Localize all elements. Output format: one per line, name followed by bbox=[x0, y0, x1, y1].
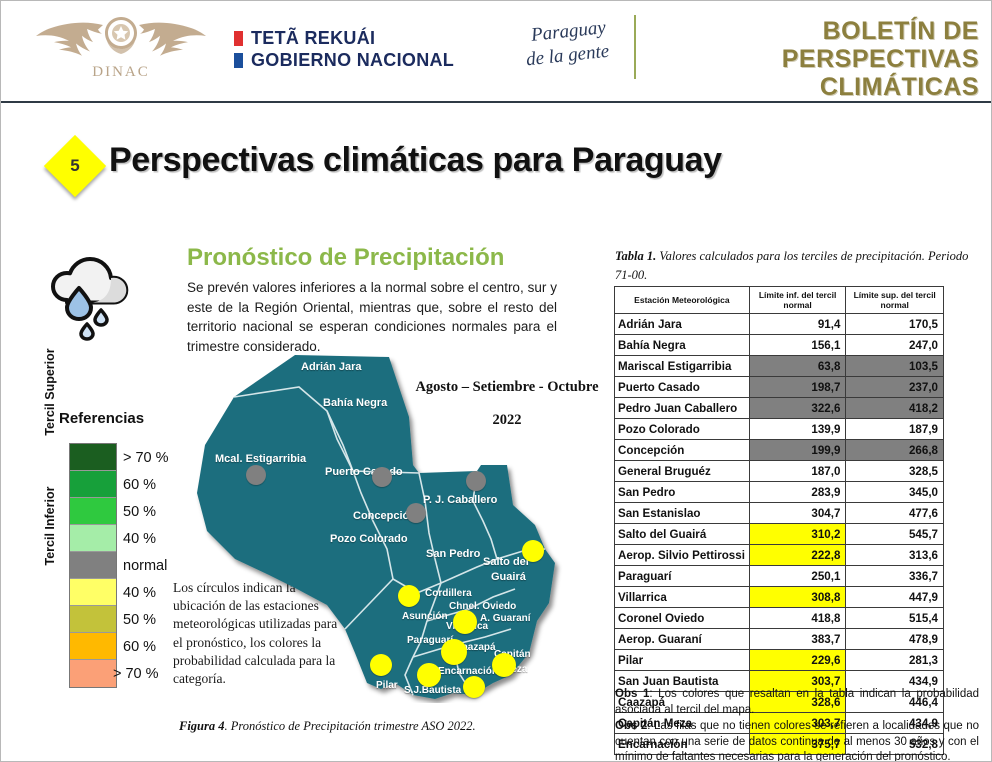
obs2-label: Obs 2 bbox=[615, 720, 647, 732]
cell-lower-limit: 156,1 bbox=[749, 335, 846, 356]
paraguay-brand: Paraguay de la gente bbox=[513, 21, 623, 67]
cell-lower-limit: 383,7 bbox=[749, 629, 846, 650]
cell-station: Aerop. Guaraní bbox=[615, 629, 750, 650]
cell-station: Villarrica bbox=[615, 587, 750, 608]
station-dot bbox=[522, 540, 544, 562]
map-label: Pozo Colorado bbox=[330, 533, 408, 545]
cell-station: San Estanislao bbox=[615, 503, 750, 524]
cell-upper-limit: 281,3 bbox=[846, 650, 944, 671]
rain-cloud-icon bbox=[39, 244, 143, 348]
table-row: Bahía Negra156,1247,0 bbox=[615, 335, 944, 356]
cell-upper-limit: 447,9 bbox=[846, 587, 944, 608]
cell-station: Mariscal Estigarribia bbox=[615, 356, 750, 377]
table-row: General Bruguéz187,0328,5 bbox=[615, 461, 944, 482]
legend-label: 50 % bbox=[123, 504, 156, 520]
station-dot bbox=[398, 585, 420, 607]
cell-lower-limit: 250,1 bbox=[749, 566, 846, 587]
gov-line-1: TETÃ REKUÁI bbox=[234, 27, 454, 49]
cell-lower-limit: 199,9 bbox=[749, 440, 846, 461]
cell-upper-limit: 103,5 bbox=[846, 356, 944, 377]
map-label: Guairá bbox=[491, 571, 526, 583]
map-label: P. J. Caballero bbox=[423, 494, 497, 506]
cell-station: San Pedro bbox=[615, 482, 750, 503]
cell-upper-limit: 336,7 bbox=[846, 566, 944, 587]
legend-label: 60 % bbox=[123, 639, 156, 655]
table-row: Pilar229,6281,3 bbox=[615, 650, 944, 671]
cell-upper-limit: 313,6 bbox=[846, 545, 944, 566]
page-header: DINAC TETÃ REKUÁI GOBIERNO NACIONAL Para… bbox=[1, 1, 991, 101]
observations: Obs 1: Los colores que resaltan en la ta… bbox=[615, 687, 979, 762]
map-label: Cordillera bbox=[425, 588, 472, 599]
forecast-heading: Pronóstico de Precipitación bbox=[187, 244, 504, 272]
cell-station: Pozo Colorado bbox=[615, 419, 750, 440]
tercile-table: Estación Meteorológica Límite inf. del t… bbox=[614, 286, 944, 755]
col-header-upper: Límite sup. del tercil normal bbox=[846, 287, 944, 314]
cell-station: Concepción bbox=[615, 440, 750, 461]
obs1-text: : Los colores que resaltan en la tabla i… bbox=[615, 688, 979, 716]
cell-lower-limit: 304,7 bbox=[749, 503, 846, 524]
table-row: Puerto Casado198,7237,0 bbox=[615, 377, 944, 398]
figure-caption-bold: Figura 4 bbox=[179, 719, 225, 733]
blue-square-icon bbox=[234, 53, 243, 68]
table-row: Salto del Guairá310,2545,7 bbox=[615, 524, 944, 545]
table-row: Aerop. Guaraní383,7478,9 bbox=[615, 629, 944, 650]
station-dot bbox=[246, 465, 266, 485]
dinac-logo: DINAC bbox=[21, 9, 221, 95]
legend-label: > 70 % bbox=[123, 450, 169, 466]
dinac-label: DINAC bbox=[21, 64, 221, 81]
station-dot bbox=[372, 467, 392, 487]
legend-swatch bbox=[70, 579, 116, 606]
station-dot bbox=[370, 654, 392, 676]
cell-station: Salto del Guairá bbox=[615, 524, 750, 545]
cell-lower-limit: 63,8 bbox=[749, 356, 846, 377]
station-dot bbox=[441, 639, 467, 665]
cell-upper-limit: 477,6 bbox=[846, 503, 944, 524]
cell-lower-limit: 139,9 bbox=[749, 419, 846, 440]
legend-label: normal bbox=[123, 558, 167, 574]
cell-upper-limit: 545,7 bbox=[846, 524, 944, 545]
table-caption-bold: Tabla 1. bbox=[615, 249, 656, 263]
table-row: Villarrica308,8447,9 bbox=[615, 587, 944, 608]
map-label: Mcal. Estigarribia bbox=[215, 453, 306, 465]
cell-station: Pedro Juan Caballero bbox=[615, 398, 750, 419]
legend-label: > 70 % bbox=[113, 666, 159, 682]
table-row: San Pedro283,9345,0 bbox=[615, 482, 944, 503]
cell-lower-limit: 310,2 bbox=[749, 524, 846, 545]
legend-swatches bbox=[69, 443, 117, 688]
table-caption: Tabla 1. Valores calculados para los ter… bbox=[615, 247, 981, 285]
cell-station: General Bruguéz bbox=[615, 461, 750, 482]
obs2-text: : Las filas que no tienen colores se ref… bbox=[615, 720, 979, 762]
gov-line-2: GOBIERNO NACIONAL bbox=[234, 49, 454, 71]
header-rule bbox=[1, 101, 991, 103]
station-dot bbox=[453, 610, 477, 634]
table-caption-rest: Valores calculados para los terciles de … bbox=[615, 249, 968, 282]
cell-upper-limit: 418,2 bbox=[846, 398, 944, 419]
obs1-label: Obs 1 bbox=[615, 688, 649, 700]
map-label: Salto del bbox=[483, 556, 529, 568]
table-row: Pozo Colorado139,9187,9 bbox=[615, 419, 944, 440]
table-row: Aerop. Silvio Pettirossi222,8313,6 bbox=[615, 545, 944, 566]
bulletin-page: DINAC TETÃ REKUÁI GOBIERNO NACIONAL Para… bbox=[0, 0, 992, 762]
cell-lower-limit: 91,4 bbox=[749, 314, 846, 335]
cell-lower-limit: 187,0 bbox=[749, 461, 846, 482]
cell-station: Paraguarí bbox=[615, 566, 750, 587]
table-row: Concepción199,9266,8 bbox=[615, 440, 944, 461]
cell-station: Adrián Jara bbox=[615, 314, 750, 335]
bulletin-title: BOLETÍN DE PERSPECTIVAS CLIMÁTICAS bbox=[649, 17, 979, 101]
map-label: Adrián Jara bbox=[301, 361, 362, 373]
cell-station: Pilar bbox=[615, 650, 750, 671]
table-row: Coronel Oviedo418,8515,4 bbox=[615, 608, 944, 629]
header-divider bbox=[634, 15, 636, 79]
cell-lower-limit: 308,8 bbox=[749, 587, 846, 608]
station-dot bbox=[463, 676, 485, 698]
cell-upper-limit: 187,9 bbox=[846, 419, 944, 440]
forecast-body: Se prevén valores inferiores a la normal… bbox=[187, 278, 557, 356]
cell-station: Bahía Negra bbox=[615, 335, 750, 356]
cell-upper-limit: 170,5 bbox=[846, 314, 944, 335]
legend-swatch bbox=[70, 471, 116, 498]
cell-station: Coronel Oviedo bbox=[615, 608, 750, 629]
legend-lower-tercile-label: Tercil Inferior bbox=[43, 471, 57, 581]
legend-label: 40 % bbox=[123, 531, 156, 547]
map-label: Encarnación bbox=[438, 666, 498, 677]
map-label: Pilar bbox=[376, 680, 398, 691]
gov-label-1: TETÃ REKUÁI bbox=[251, 28, 375, 49]
government-logo: TETÃ REKUÁI GOBIERNO NACIONAL bbox=[234, 27, 454, 71]
col-header-station: Estación Meteorológica bbox=[615, 287, 750, 314]
cell-upper-limit: 515,4 bbox=[846, 608, 944, 629]
cell-station: Aerop. Silvio Pettirossi bbox=[615, 545, 750, 566]
paraguay-map: Adrián Jara Bahía Negra Mcal. Estigarrib… bbox=[177, 353, 587, 703]
figure-caption-rest: . Pronóstico de Precipitación trimestre … bbox=[225, 719, 476, 733]
map-label: S.J.Bautista bbox=[404, 685, 461, 696]
table-row: San Estanislao304,7477,6 bbox=[615, 503, 944, 524]
legend-swatch bbox=[70, 606, 116, 633]
legend-label: 50 % bbox=[123, 612, 156, 628]
section-number: 5 bbox=[53, 144, 97, 188]
col-header-lower: Límite inf. del tercil normal bbox=[749, 287, 846, 314]
cell-upper-limit: 247,0 bbox=[846, 335, 944, 356]
station-dot bbox=[406, 503, 426, 523]
forecast-period-year: 2022 bbox=[412, 412, 602, 429]
table-header-row: Estación Meteorológica Límite inf. del t… bbox=[615, 287, 944, 314]
cell-lower-limit: 198,7 bbox=[749, 377, 846, 398]
cell-upper-limit: 237,0 bbox=[846, 377, 944, 398]
red-square-icon bbox=[234, 31, 243, 46]
map-label: Asunción bbox=[402, 611, 448, 622]
cell-upper-limit: 266,8 bbox=[846, 440, 944, 461]
legend-swatch bbox=[70, 552, 116, 579]
station-dot bbox=[417, 663, 441, 687]
cell-lower-limit: 222,8 bbox=[749, 545, 846, 566]
gov-label-2: GOBIERNO NACIONAL bbox=[251, 50, 454, 71]
cell-lower-limit: 283,9 bbox=[749, 482, 846, 503]
legend-swatch bbox=[70, 633, 116, 660]
station-dot bbox=[466, 471, 486, 491]
cell-lower-limit: 322,6 bbox=[749, 398, 846, 419]
legend-upper-tercile-label: Tercil Superior bbox=[43, 337, 57, 447]
legend-swatch bbox=[70, 660, 116, 687]
table-row: Adrián Jara91,4170,5 bbox=[615, 314, 944, 335]
station-dot bbox=[492, 653, 516, 677]
legend-label: 60 % bbox=[123, 477, 156, 493]
legend-swatch bbox=[70, 525, 116, 552]
legend-label: 40 % bbox=[123, 585, 156, 601]
map-label: Bahía Negra bbox=[323, 397, 387, 409]
table-row: Paraguarí250,1336,7 bbox=[615, 566, 944, 587]
cell-lower-limit: 418,8 bbox=[749, 608, 846, 629]
cell-upper-limit: 478,9 bbox=[846, 629, 944, 650]
dinac-wings-icon bbox=[21, 11, 221, 69]
table-row: Mariscal Estigarribia63,8103,5 bbox=[615, 356, 944, 377]
legend-swatch bbox=[70, 498, 116, 525]
forecast-period: Agosto – Setiembre - Octubre bbox=[412, 379, 602, 396]
cell-station: Puerto Casado bbox=[615, 377, 750, 398]
legend-title: Referencias bbox=[59, 410, 144, 427]
cell-upper-limit: 345,0 bbox=[846, 482, 944, 503]
legend-swatch bbox=[70, 444, 116, 471]
page-title: Perspectivas climáticas para Paraguay bbox=[109, 141, 722, 180]
map-label: San Pedro bbox=[426, 548, 480, 560]
cell-lower-limit: 229,6 bbox=[749, 650, 846, 671]
table-row: Pedro Juan Caballero322,6418,2 bbox=[615, 398, 944, 419]
cell-upper-limit: 328,5 bbox=[846, 461, 944, 482]
figure-caption: Figura 4. Pronóstico de Precipitación tr… bbox=[179, 719, 476, 734]
